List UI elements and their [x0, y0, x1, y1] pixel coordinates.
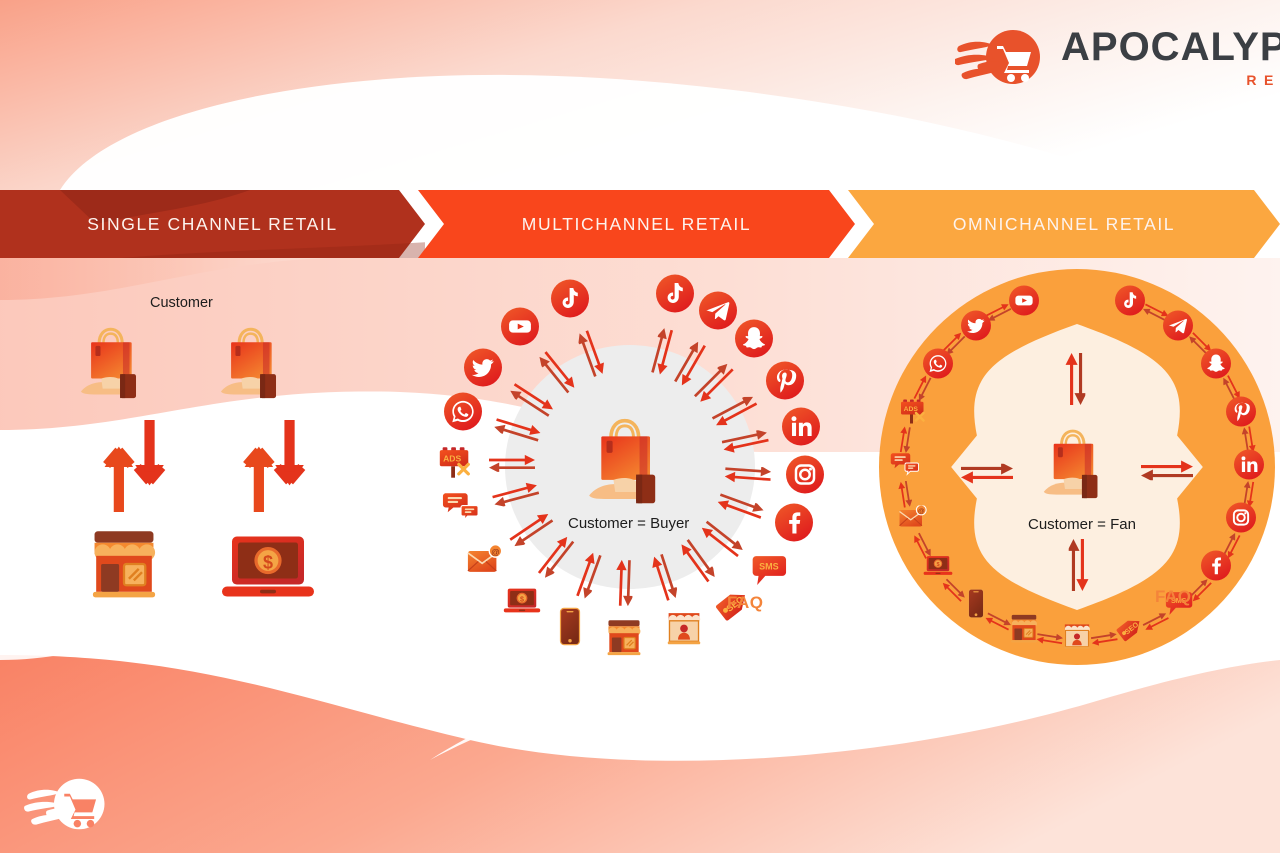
omnichannel-center-icon: [1038, 424, 1116, 504]
multichannel-faq-label[interactable]: FAQ: [727, 593, 763, 613]
single-channel-customer-2: [215, 322, 295, 404]
omni-arrow-left-icon: [961, 458, 1013, 485]
youtube-icon: [1009, 303, 1039, 320]
instagram-icon: [786, 481, 824, 498]
svg-text:SMS: SMS: [759, 561, 779, 571]
two-way-arrow-icon: [489, 453, 535, 477]
stage-banner: SINGLE CHANNEL RETAIL MULTICHANNEL RETAI…: [0, 190, 1280, 258]
pinterest-icon: [1226, 413, 1256, 430]
banner-stage-2[interactable]: MULTICHANNEL RETAIL: [418, 190, 855, 258]
channel-youtube[interactable]: [1009, 286, 1039, 321]
single-channel-node-online-store[interactable]: $: [220, 532, 316, 606]
channel-facebook[interactable]: [1201, 551, 1231, 586]
linkedin-icon: [782, 432, 820, 449]
multichannel-center-icon: [582, 412, 678, 509]
whatsapp-icon: [444, 417, 482, 434]
channel-chat[interactable]: [890, 452, 920, 483]
channel-sms[interactable]: SMS: [749, 552, 787, 593]
svg-text:@: @: [491, 547, 500, 557]
tiktok-icon: [551, 304, 589, 321]
snapchat-icon: [735, 345, 773, 362]
smartphone-icon: [559, 633, 582, 650]
brand-name: APOCALYPSE: [1061, 27, 1280, 67]
omnichannel-faq-label[interactable]: FAQ: [1155, 587, 1191, 607]
omnichannel-center-label: Customer = Fan: [1028, 516, 1136, 533]
single-channel-arrows-2: [242, 420, 306, 517]
market-stall-icon: [1062, 637, 1092, 654]
single-channel-customer-1: [75, 322, 155, 404]
channel-chat[interactable]: [442, 492, 480, 529]
channel-instagram[interactable]: [786, 456, 824, 499]
infographic-canvas: APOCALYPSE RETAIL SINGLE CHANNEL RETAIL …: [0, 0, 1280, 853]
channel-tiktok[interactable]: [656, 274, 694, 317]
svg-text:@: @: [918, 508, 925, 515]
flaming-shopping-cart-watermark-icon: [22, 775, 114, 833]
linkedin-icon: [1234, 467, 1264, 484]
channel-tiktok[interactable]: [1115, 286, 1145, 321]
channel-twitter[interactable]: [961, 310, 991, 345]
svg-text:$: $: [520, 595, 524, 603]
channel-ads[interactable]: ADS: [436, 444, 474, 487]
ads-billboard-icon: ADS: [898, 413, 928, 430]
channel-store[interactable]: [605, 618, 643, 661]
storefront-icon: [605, 643, 643, 660]
brand-tagline: RETAIL: [1061, 73, 1280, 87]
banner-stage-label-3: OMNICHANNEL RETAIL: [953, 214, 1175, 235]
channel-store[interactable]: [1009, 613, 1039, 648]
flaming-shopping-cart-icon: [955, 26, 1047, 88]
ring-link-arrow-icon: [1090, 626, 1118, 648]
facebook-icon: [775, 528, 813, 545]
channel-email[interactable]: @: [466, 545, 504, 580]
channel-seo[interactable]: SEO: [1115, 613, 1145, 648]
two-way-arrow-icon: [724, 460, 772, 487]
channel-facebook[interactable]: [775, 503, 813, 546]
tiktok-icon: [656, 299, 694, 316]
channel-instagram[interactable]: [1226, 503, 1256, 538]
omni-arrow-top-icon: [1063, 353, 1090, 405]
chat-bubbles-icon: [442, 511, 480, 528]
channel-snapchat[interactable]: [1201, 348, 1231, 383]
seo-tag-icon: SEO: [1115, 630, 1145, 647]
banner-stage-label-1: SINGLE CHANNEL RETAIL: [87, 214, 337, 235]
omni-arrow-right-icon: [1141, 458, 1193, 485]
banner-stage-1[interactable]: SINGLE CHANNEL RETAIL: [0, 190, 425, 258]
whatsapp-icon: [923, 365, 953, 382]
svg-text:ADS: ADS: [904, 406, 919, 413]
svg-text:ADS: ADS: [443, 454, 461, 464]
instagram-icon: [1226, 520, 1256, 537]
chat-bubbles-icon: [890, 464, 920, 481]
smartphone-icon: [967, 606, 985, 623]
pinterest-icon: [766, 386, 804, 403]
channel-linkedin[interactable]: [1234, 450, 1264, 485]
channel-email[interactable]: @: [898, 506, 928, 535]
email-at-icon: @: [466, 563, 504, 580]
channel-telegram[interactable]: [1163, 310, 1193, 345]
tiktok-icon: [1115, 303, 1145, 320]
channel-tiktok2[interactable]: [551, 279, 589, 322]
channel-mobile[interactable]: [559, 608, 582, 651]
svg-text:$: $: [263, 553, 273, 573]
multichannel-center-label: Customer = Buyer: [568, 515, 689, 532]
sms-bubble-icon: SMS: [749, 575, 787, 592]
banner-stage-3[interactable]: OMNICHANNEL RETAIL: [848, 190, 1280, 258]
channel-marketplace[interactable]: [665, 612, 703, 651]
channel-whatsapp[interactable]: [923, 348, 953, 383]
channel-twitter[interactable]: [464, 348, 502, 391]
storefront-icon: [1009, 630, 1039, 647]
omni-arrow-bottom-icon: [1063, 539, 1090, 591]
brand-logo[interactable]: APOCALYPSE RETAIL: [955, 18, 1255, 96]
market-stall-icon: [665, 633, 703, 650]
single-channel-title: Customer: [150, 295, 213, 311]
youtube-icon: [501, 332, 539, 349]
single-channel-arrows-1: [102, 420, 166, 517]
single-channel-node-physical-store[interactable]: [88, 528, 160, 605]
twitter-icon: [464, 373, 502, 390]
laptop-with-dollar-coin-icon: $: [923, 563, 953, 580]
sms-bubble-icon: SMS: [1163, 605, 1193, 622]
ring-link-arrow-icon: [1036, 626, 1064, 648]
channel-mobile[interactable]: [967, 589, 985, 624]
laptop-with-dollar-coin-icon: $: [503, 601, 541, 618]
channel-linkedin[interactable]: [782, 407, 820, 450]
channel-ecommerce[interactable]: $: [923, 555, 953, 582]
email-at-icon: @: [898, 517, 928, 534]
channel-ads[interactable]: ADS: [898, 396, 928, 431]
channel-telegram[interactable]: [699, 292, 737, 335]
channel-youtube[interactable]: [501, 307, 539, 350]
telegram-icon: [1163, 327, 1193, 344]
channel-whatsapp[interactable]: [444, 392, 482, 435]
facebook-icon: [1201, 568, 1231, 585]
channel-ecommerce[interactable]: $: [503, 587, 541, 619]
two-way-arrow-icon: [613, 560, 639, 607]
ads-billboard-icon: ADS: [436, 469, 474, 486]
channel-pinterest[interactable]: [1226, 396, 1256, 431]
channel-snapchat[interactable]: [735, 320, 773, 363]
twitter-icon: [961, 327, 991, 344]
channel-pinterest[interactable]: [766, 361, 804, 404]
banner-stage-label-2: MULTICHANNEL RETAIL: [522, 214, 751, 235]
channel-marketplace[interactable]: [1062, 623, 1092, 655]
telegram-icon: [699, 317, 737, 334]
snapchat-icon: [1201, 365, 1231, 382]
